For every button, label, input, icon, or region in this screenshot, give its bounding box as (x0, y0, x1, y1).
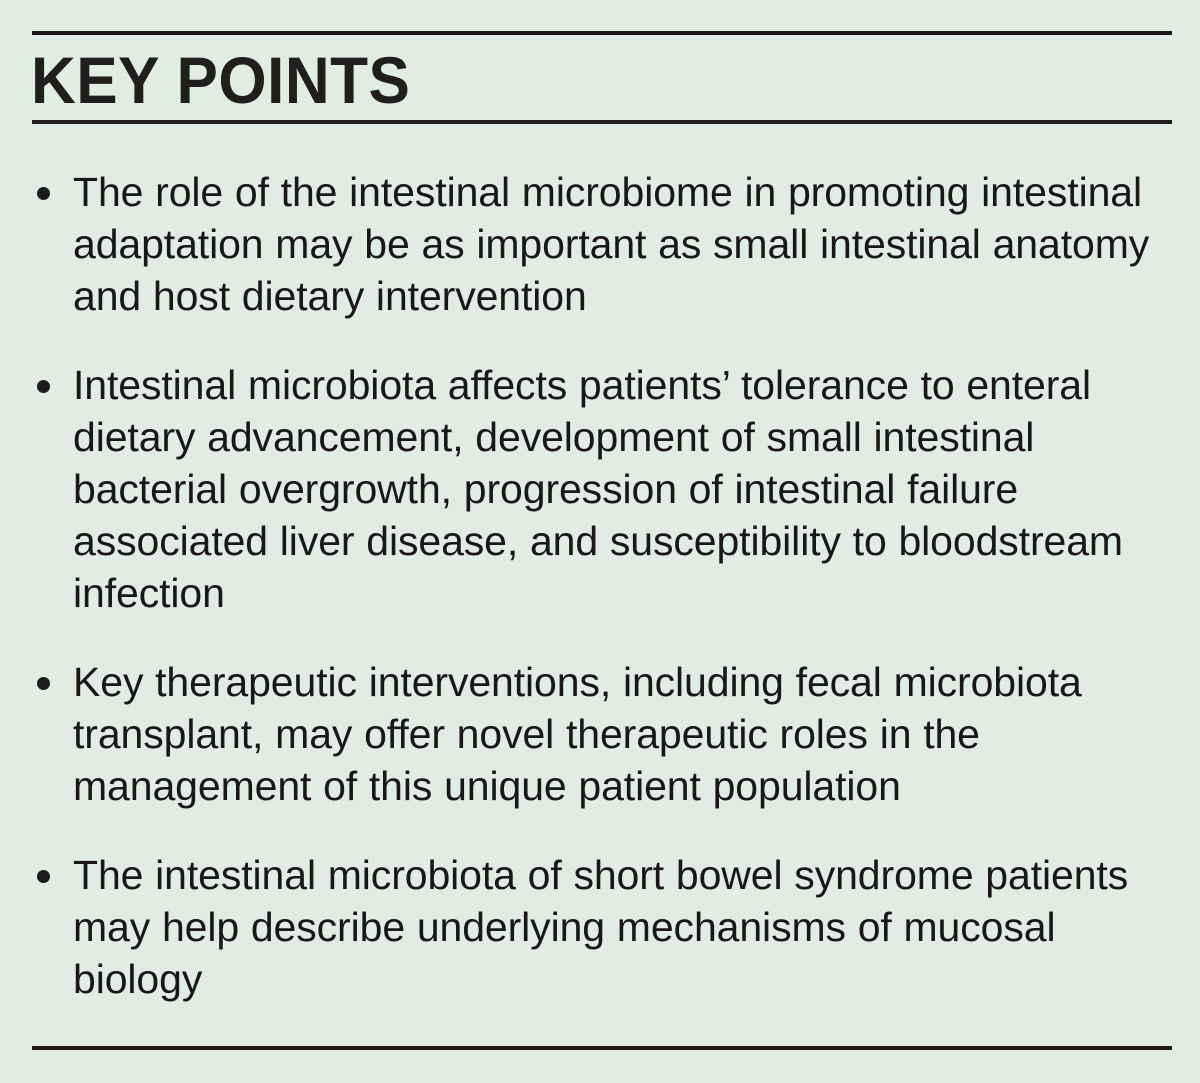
divider-bottom (32, 1046, 1172, 1050)
key-points-list: The role of the intestinal microbiome in… (32, 166, 1172, 1005)
dot-bullet-icon (37, 380, 50, 393)
list-item-text: The intestinal microbiota of short bowel… (73, 849, 1172, 1005)
dot-bullet-icon (37, 677, 50, 690)
key-points-panel: KEY POINTS The role of the intestinal mi… (0, 0, 1200, 1083)
divider-top (32, 31, 1172, 35)
list-item: Key therapeutic interventions, including… (32, 656, 1172, 812)
divider-under-title (32, 120, 1172, 124)
list-item-text: The role of the intestinal microbiome in… (73, 166, 1172, 322)
list-item: The role of the intestinal microbiome in… (32, 166, 1172, 322)
dot-bullet-icon (37, 187, 50, 200)
list-item: Intestinal microbiota affects patients’ … (32, 359, 1172, 619)
dot-bullet-icon (37, 870, 50, 883)
page-title: KEY POINTS (31, 46, 410, 114)
list-item: The intestinal microbiota of short bowel… (32, 849, 1172, 1005)
list-item-text: Key therapeutic interventions, including… (73, 656, 1172, 812)
list-item-text: Intestinal microbiota affects patients’ … (73, 359, 1172, 619)
